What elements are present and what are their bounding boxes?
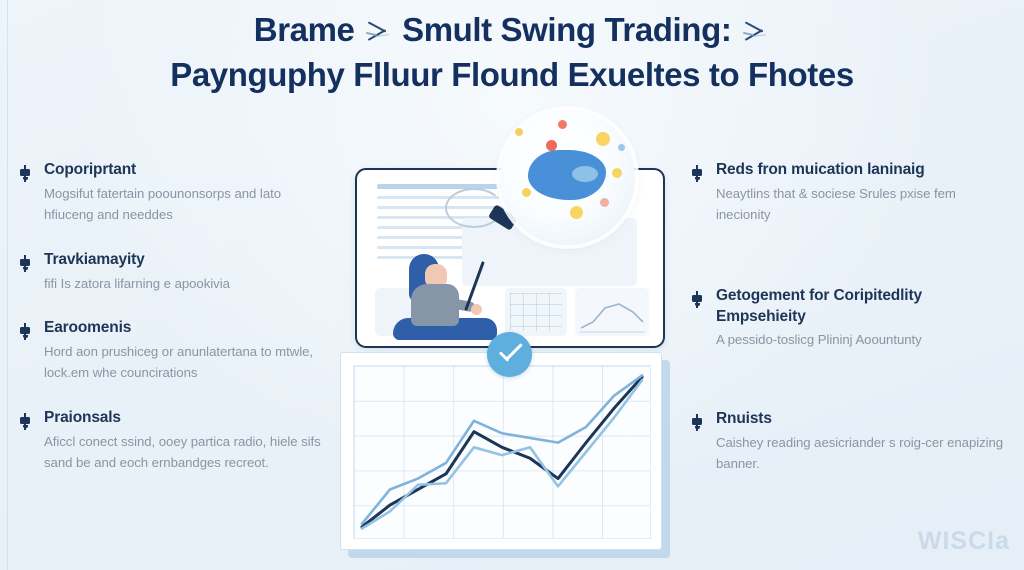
bulb-node-icon xyxy=(558,120,567,129)
bulb-node-icon xyxy=(596,132,610,146)
list-item: Praionsals Aficcl conect ssind, ooey par… xyxy=(16,408,334,474)
pin-marker-icon xyxy=(18,323,32,340)
list-item: Earoomenis Hord aon prushiceg or anunlat… xyxy=(16,318,334,384)
list-item: Getogement for Coripitedlity Empsehieity… xyxy=(688,286,1004,352)
list-item: Rnuists Caishey reading aesicriander s r… xyxy=(688,409,1004,475)
chart-series-svg xyxy=(354,366,650,538)
bullet-body: A pessido-toslicg Plininj Aoountunty xyxy=(716,330,1004,351)
bulb-node-icon xyxy=(546,140,557,151)
pin-marker-icon xyxy=(18,413,32,430)
list-item: Coporiprtant Mogsifut fatertain poounons… xyxy=(16,160,334,226)
brain-shape-icon xyxy=(528,150,606,200)
bulb-glass xyxy=(500,110,635,245)
pin-marker-icon xyxy=(18,255,32,272)
title-line-1: Brame Smult Swing Trading: xyxy=(70,10,954,50)
bullet-body: fifi Is zatora lifarning e apookivia xyxy=(44,274,334,295)
bulb-node-icon xyxy=(612,168,622,178)
chart-series-primary-trend xyxy=(362,377,642,527)
bullet-heading: Reds fron muication laninaig xyxy=(716,160,1004,181)
verified-check-icon xyxy=(487,332,532,377)
bullet-heading: Travkiamayity xyxy=(44,250,334,271)
chart-series-upper-band xyxy=(362,375,642,523)
bulb-node-icon xyxy=(618,144,625,151)
pin-marker-icon xyxy=(690,291,704,308)
list-item: Reds fron muication laninaig Neaytlins t… xyxy=(688,160,1004,226)
bullet-body: Mogsifut fatertain poounonsorps and lato… xyxy=(44,184,334,226)
bullet-body: Neaytlins that & sociese Srules pxise fe… xyxy=(716,184,1004,226)
pin-marker-icon xyxy=(690,414,704,431)
title-line-2: Paynguphy Flluur Flound Exueltes to Fhot… xyxy=(70,55,954,95)
pin-marker-icon xyxy=(18,165,32,182)
bullet-body: Caishey reading aesicriander s roig-cer … xyxy=(716,433,1004,475)
bullet-heading: Praionsals xyxy=(44,408,334,429)
bullet-heading: Coporiprtant xyxy=(44,160,334,181)
seated-person-with-laptop xyxy=(387,254,507,340)
pin-marker-icon xyxy=(690,165,704,182)
lightbulb-brain-illustration xyxy=(500,110,635,245)
list-item: Travkiamayity fifi Is zatora lifarning e… xyxy=(16,250,334,295)
bulb-node-icon xyxy=(570,206,583,219)
bulb-node-icon xyxy=(515,128,523,136)
bird-x-icon xyxy=(365,21,391,45)
bullet-body: Hord aon prushiceg or anunlatertana to m… xyxy=(44,342,334,384)
bulb-node-icon xyxy=(522,188,531,197)
bulb-node-icon xyxy=(600,198,609,207)
title-text-part-2: Smult Swing Trading: xyxy=(402,11,731,48)
page-title: Brame Smult Swing Trading: Paynguphy Fll… xyxy=(70,10,954,96)
bullet-heading: Getogement for Coripitedlity Empsehieity xyxy=(716,286,1004,328)
right-bullet-column: Reds fron muication laninaig Neaytlins t… xyxy=(688,160,1004,499)
bird-x-icon xyxy=(742,21,768,45)
chart-plot-area xyxy=(353,365,651,539)
chart-series-lower-band xyxy=(362,380,642,528)
bullet-heading: Rnuists xyxy=(716,409,1004,430)
document-mini-chart xyxy=(575,288,649,336)
trend-chart-panel xyxy=(340,352,662,550)
left-bullet-column: Coporiprtant Mogsifut fatertain poounons… xyxy=(16,160,334,498)
infographic-poster: Brame Smult Swing Trading: Paynguphy Fll… xyxy=(0,0,1024,570)
watermark-label: WISCIa xyxy=(918,527,1010,556)
bullet-body: Aficcl conect ssind, ooey partica radio,… xyxy=(44,432,334,474)
title-text-part-1: Brame xyxy=(254,11,355,48)
document-mini-table xyxy=(505,288,567,336)
bullet-heading: Earoomenis xyxy=(44,318,334,339)
